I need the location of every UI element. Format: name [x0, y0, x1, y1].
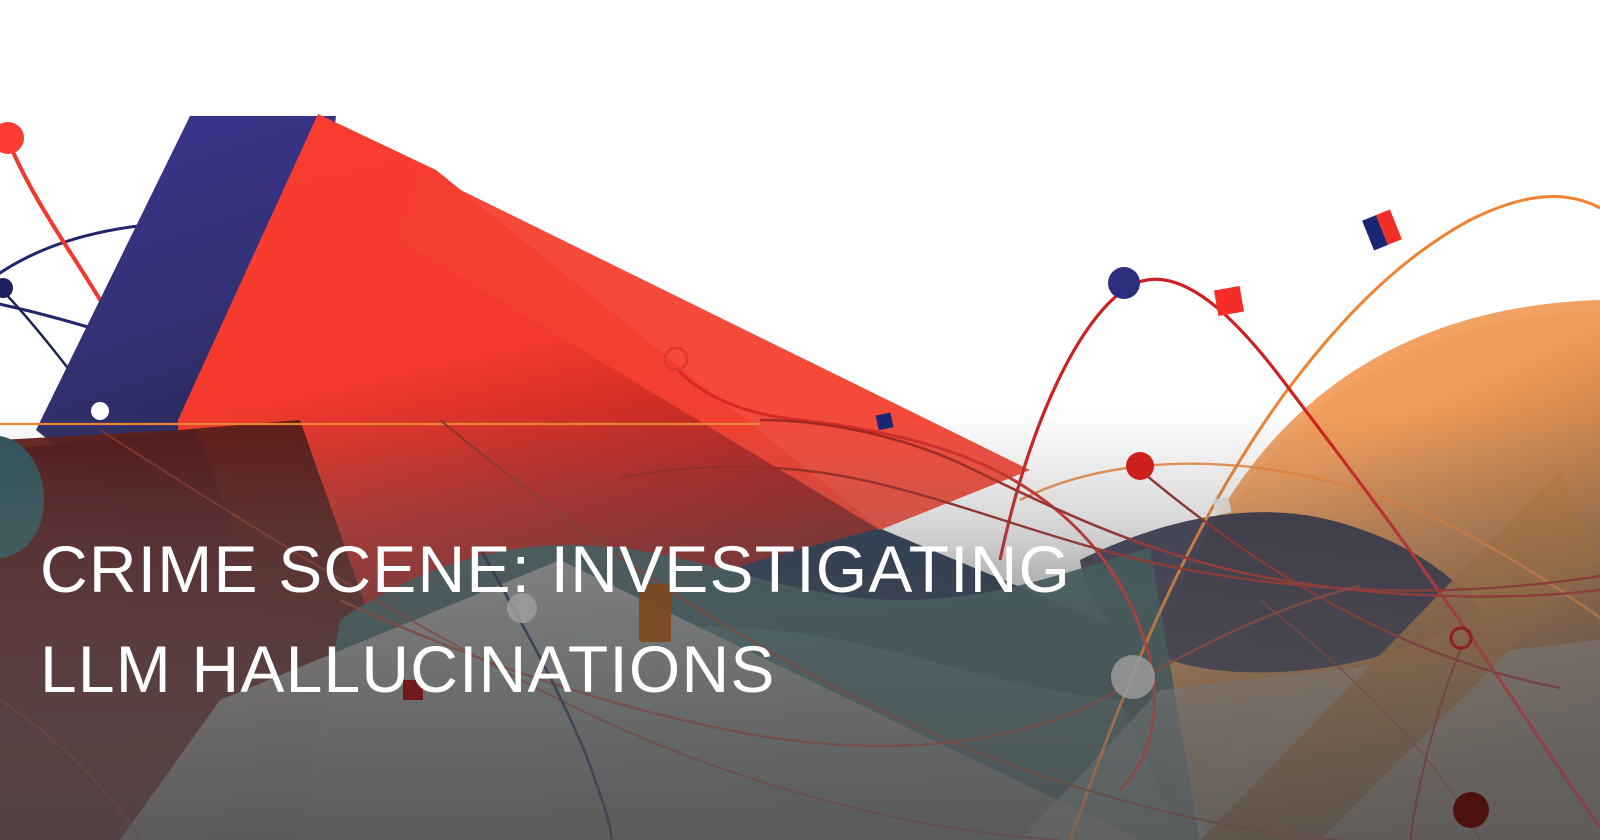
white-endpoint-dot: [91, 402, 109, 420]
dark-red-dot-bottom-right: [1453, 792, 1489, 828]
red-dot-mid: [1126, 452, 1154, 480]
dark-red-square-marker: [403, 680, 423, 700]
banner-canvas: CRIME SCENE: INVESTIGATING LLM HALLUCINA…: [0, 0, 1600, 840]
gray-dot-center: [507, 593, 537, 623]
navy-square-marker: [876, 412, 894, 430]
gray-scrim-overlay: [0, 410, 1600, 840]
abstract-artwork: [0, 0, 1600, 840]
light-gray-square-marker: [1213, 497, 1232, 516]
brown-bar-marker: [639, 584, 671, 642]
gray-dot-bottom: [1111, 655, 1155, 699]
navy-dot-peak: [1108, 267, 1140, 299]
red-square-marker: [1214, 286, 1244, 316]
